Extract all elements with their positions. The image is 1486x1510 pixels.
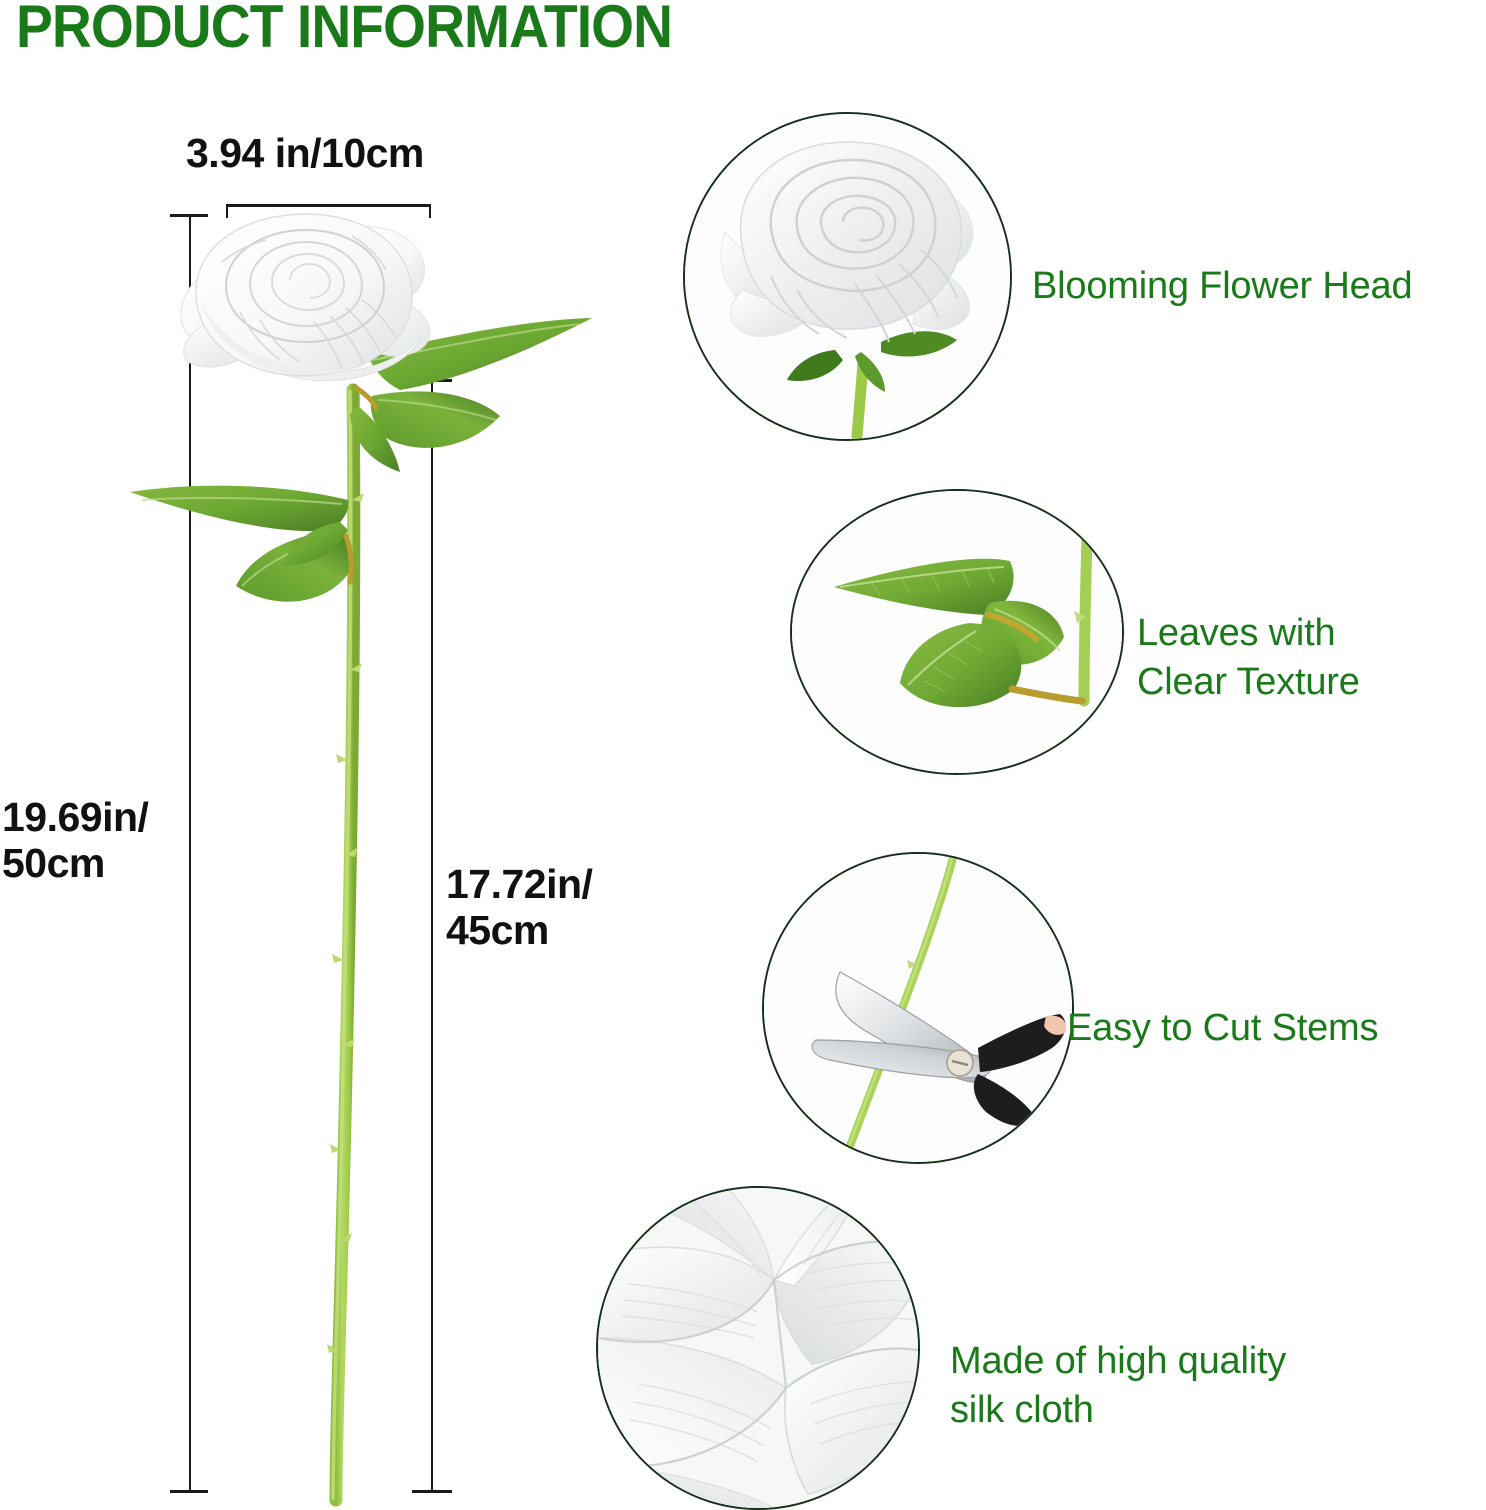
callout-image-leaves-clear-texture xyxy=(790,489,1124,775)
callout-image-easy-to-cut-stems xyxy=(762,852,1074,1164)
page-title: PRODUCT INFORMATION xyxy=(16,0,672,60)
callout-label-easy-to-cut-stems: Easy to Cut Stems xyxy=(1067,1004,1378,1053)
callout-label-leaves-clear-texture: Leaves with Clear Texture xyxy=(1137,609,1360,706)
callout-image-high-quality-silk xyxy=(596,1186,920,1510)
lower-leaf-cluster xyxy=(130,486,351,602)
flower-width-label: 3.94 in/10cm xyxy=(186,131,424,177)
callout-image-blooming-flower-head xyxy=(683,112,1012,441)
callout-label-high-quality-silk: Made of high quality silk cloth xyxy=(950,1337,1286,1434)
callout-label-blooming-flower-head: Blooming Flower Head xyxy=(1032,262,1412,311)
product-image-rose-stem xyxy=(100,200,620,1510)
rose-bloom-head xyxy=(181,214,430,381)
